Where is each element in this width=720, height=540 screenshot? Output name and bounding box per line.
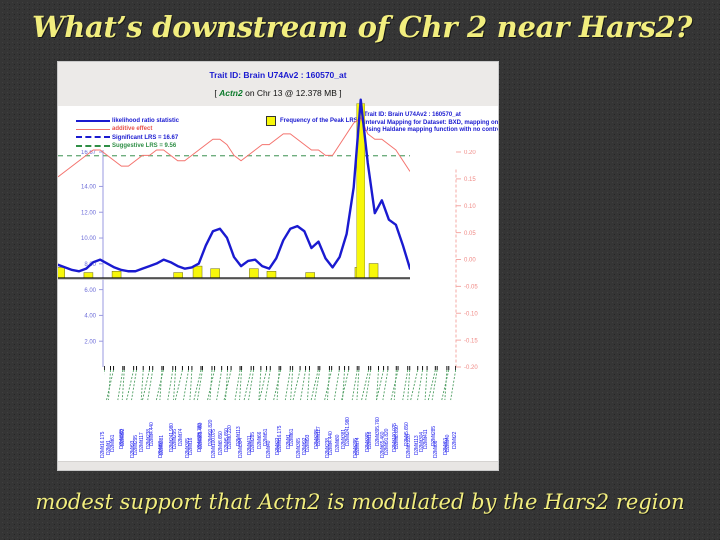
marker-label: D2Mit295 [133, 435, 139, 455]
marker-label: D2Mit93 [305, 435, 311, 452]
marker-label: D2Mit16.175 [277, 426, 283, 452]
marker-label: D2Mit74 [178, 429, 184, 446]
svg-text:-0.10: -0.10 [464, 311, 478, 317]
marker-label: D2Mit61 [289, 429, 295, 446]
marker-labels: D2Mit16.175D2Mit1D2Mit61D2Mit365D2Mit92D… [104, 362, 456, 462]
y-axis-right: 0.200.150.100.050.00-0.05-0.10-0.15-0.20 [454, 150, 498, 372]
svg-text:0.00: 0.00 [464, 258, 476, 264]
marker-label: D2Mit66 [257, 432, 263, 449]
svg-text:-0.20: -0.20 [464, 365, 478, 371]
slide-caption: modest support that Actn2 is modulated b… [0, 490, 720, 514]
slide-title: What’s downstream of Chr 2 near Hars2? [32, 10, 692, 44]
marker-label: D2Mit40 [266, 441, 272, 458]
marker-label: D2Mit92 [120, 429, 126, 446]
marker-label: D2Mit285 [250, 432, 256, 452]
svg-text:6.00: 6.00 [84, 288, 96, 294]
qtl-figure-panel: Trait ID: Brain U74Av2 : 160570_at [ Act… [58, 62, 498, 470]
figure-footer-bar [58, 461, 498, 470]
marker-label: D2Mit117 [139, 433, 145, 452]
marker-label: D2Mit65.460 [198, 423, 204, 449]
svg-text:0.15: 0.15 [464, 177, 476, 183]
svg-text:0.20: 0.20 [464, 150, 476, 156]
marker-label: D2Mit16 [367, 432, 373, 449]
qtl-plot [58, 62, 410, 280]
svg-text:0.05: 0.05 [464, 231, 476, 237]
marker-label: D2Mit4.440 [149, 422, 155, 446]
svg-text:-0.05: -0.05 [464, 285, 478, 291]
marker-label: D2Mit8.650 [218, 431, 224, 455]
marker-label: D2Mit61 [110, 435, 116, 452]
marker-label: D2Mit66 [433, 441, 439, 458]
marker-label: D2Mit0.220 [227, 425, 233, 449]
marker-label: D2Mit16 [188, 438, 194, 455]
marker-label: D2Mit74 [355, 438, 361, 455]
marker-label: D2Mit8.650 [394, 425, 400, 449]
marker-label: D2Mit91.820 [384, 429, 390, 455]
marker-label: D2Mit4.440 [328, 431, 334, 455]
marker-label: D2Mit304 [238, 438, 244, 458]
svg-text:0.10: 0.10 [464, 204, 476, 210]
svg-text:2.00: 2.00 [84, 339, 96, 345]
marker-label: D2Mit381 [159, 435, 165, 455]
svg-text:-0.15: -0.15 [464, 338, 478, 344]
marker-label: D2Mit100.075 [211, 429, 217, 458]
svg-text:4.00: 4.00 [84, 314, 96, 320]
marker-label: D2Mit241.980 [345, 417, 351, 446]
marker-label: D2Mit22 [452, 432, 458, 449]
marker-label: D2Mit295 [172, 429, 178, 449]
marker-label: D2Mit117 [316, 427, 322, 446]
marker-label: D2Mit411 [423, 430, 429, 449]
marker-label: D2Mit0.220 [406, 434, 412, 458]
marker-label: D2Mit40 [445, 435, 451, 452]
